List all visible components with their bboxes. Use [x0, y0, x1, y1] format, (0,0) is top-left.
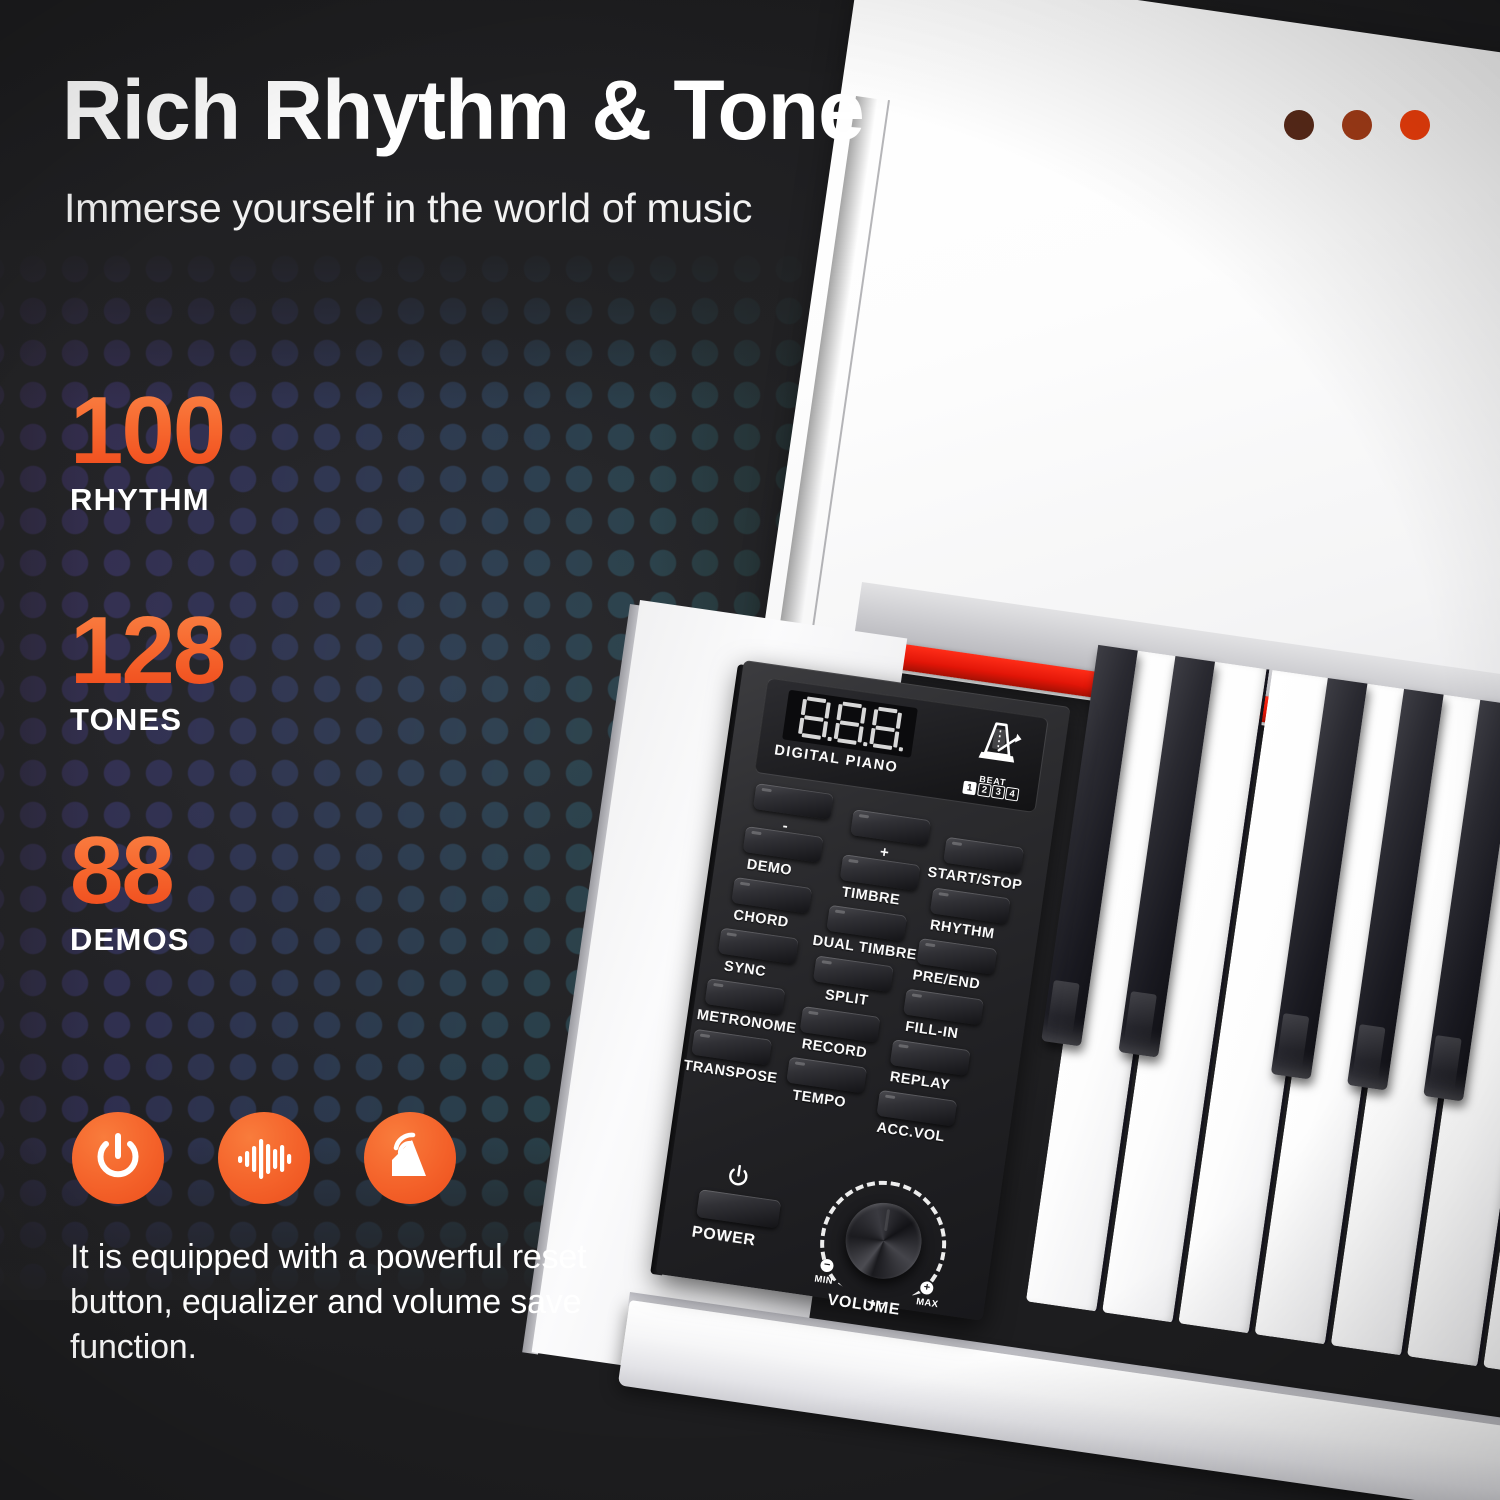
stat-demos: 88 DEMOS [70, 825, 190, 958]
stat-rhythm: 100 RHYTHM [70, 385, 224, 518]
volume-min-label: MIN [814, 1273, 834, 1287]
beat-indicators: 1 2 3 4 [962, 781, 1019, 802]
page-title: Rich Rhythm & Tone [62, 68, 864, 152]
digit-3 [868, 706, 904, 752]
dot-3 [1400, 110, 1430, 140]
piano-keyboard [1023, 648, 1500, 1401]
digit-1 [797, 696, 833, 742]
stat-tones: 128 TONES [70, 605, 224, 738]
dot-2 [1342, 110, 1372, 140]
stat-tones-number: 128 [70, 605, 224, 696]
split-button[interactable] [813, 955, 894, 992]
dot-1 [1284, 110, 1314, 140]
timbre-label: TIMBRE [841, 884, 901, 908]
power-icon [72, 1112, 164, 1204]
page-subtitle: Immerse yourself in the world of music [64, 185, 752, 232]
beat-1[interactable]: 1 [962, 781, 977, 796]
stat-demos-number: 88 [70, 825, 190, 916]
split-label: SPLIT [824, 987, 869, 1009]
stat-demos-label: DEMOS [70, 922, 190, 958]
fill-in-label: FILL-IN [904, 1019, 959, 1042]
chord-label: CHORD [732, 907, 789, 931]
feature-caption: It is equipped with a powerful reset but… [70, 1235, 600, 1370]
speaker-icon [364, 1112, 456, 1204]
power-symbol-icon [725, 1163, 752, 1190]
button-grid: - + DEMO CHORD SYNC METRONOME TRANSPOSE … [700, 782, 1036, 1189]
volume-max-label: MAX [915, 1296, 939, 1310]
feature-icon-row [72, 1112, 456, 1204]
demo-label: DEMO [746, 857, 793, 879]
replay-label: REPLAY [889, 1069, 951, 1093]
sync-label: SYNC [723, 958, 767, 980]
stat-rhythm-number: 100 [70, 385, 224, 476]
digit-2 [832, 701, 868, 747]
power-button[interactable] [696, 1189, 781, 1228]
beat-4[interactable]: 4 [1005, 787, 1020, 802]
decorative-dots [1284, 110, 1430, 140]
plus-button[interactable] [850, 809, 931, 846]
beat-2[interactable]: 2 [977, 783, 992, 798]
minus-button[interactable] [753, 783, 834, 820]
beat-3[interactable]: 3 [991, 785, 1006, 800]
equalizer-icon [218, 1112, 310, 1204]
volume-control[interactable]: − MIN + MAX VOLUME [812, 1172, 955, 1315]
stat-rhythm-label: RHYTHM [70, 482, 224, 518]
metronome-icon: BEAT 1 2 3 4 [962, 716, 1035, 804]
stat-tones-label: TONES [70, 702, 224, 738]
power-label: POWER [691, 1224, 757, 1251]
poster-canvas: DIGITAL PIANO BEAT 1 [0, 0, 1500, 1500]
tempo-label: TEMPO [791, 1087, 847, 1111]
